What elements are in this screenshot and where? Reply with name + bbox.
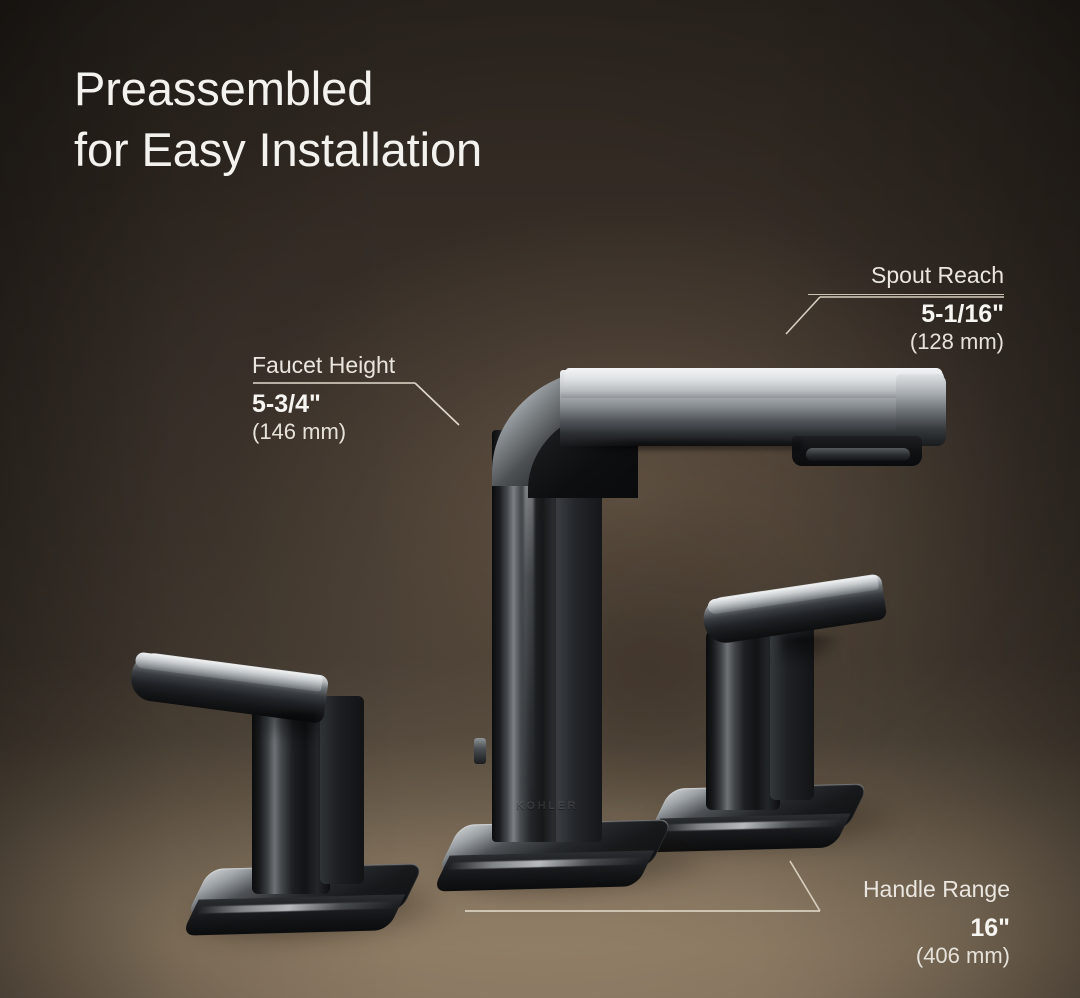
escutcheon-side-face xyxy=(432,851,654,892)
callout-title: Spout Reach xyxy=(808,262,1004,289)
callout-metric: (406 mm) xyxy=(838,943,1010,970)
escutcheon-side-face xyxy=(181,895,404,936)
callout-value: 5-3/4" xyxy=(252,389,418,419)
spout-arm-undershadow xyxy=(566,440,802,450)
left-handle-inner-shadow xyxy=(248,712,318,744)
left-handle-column-side xyxy=(320,696,364,884)
callout-title: Handle Range xyxy=(838,876,1010,903)
callout-value: 16" xyxy=(838,913,1010,943)
product-infographic: KOHLER xyxy=(0,0,1080,998)
drain-rod-nub xyxy=(474,738,486,764)
right-handle-column xyxy=(706,628,780,810)
callout-title: Faucet Height xyxy=(252,352,418,379)
page-title: Preassembled for Easy Installation xyxy=(74,58,482,180)
callout-spout-reach: Spout Reach 5-1/16" (128 mm) xyxy=(808,262,1004,356)
spout-arm-top-face xyxy=(560,368,944,398)
brand-mark: KOHLER xyxy=(516,800,578,812)
callout-handle-range: Handle Range 16" (406 mm) xyxy=(838,876,1010,970)
callout-metric: (128 mm) xyxy=(808,329,1004,356)
right-handle-inner-shadow xyxy=(780,636,842,666)
callout-metric: (146 mm) xyxy=(252,419,418,446)
callout-rule xyxy=(808,294,1004,295)
aerator xyxy=(806,448,910,461)
spout-column-highlight xyxy=(524,440,534,832)
callout-value: 5-1/16" xyxy=(808,299,1004,329)
callout-faucet-height: Faucet Height 5-3/4" (146 mm) xyxy=(252,352,418,446)
